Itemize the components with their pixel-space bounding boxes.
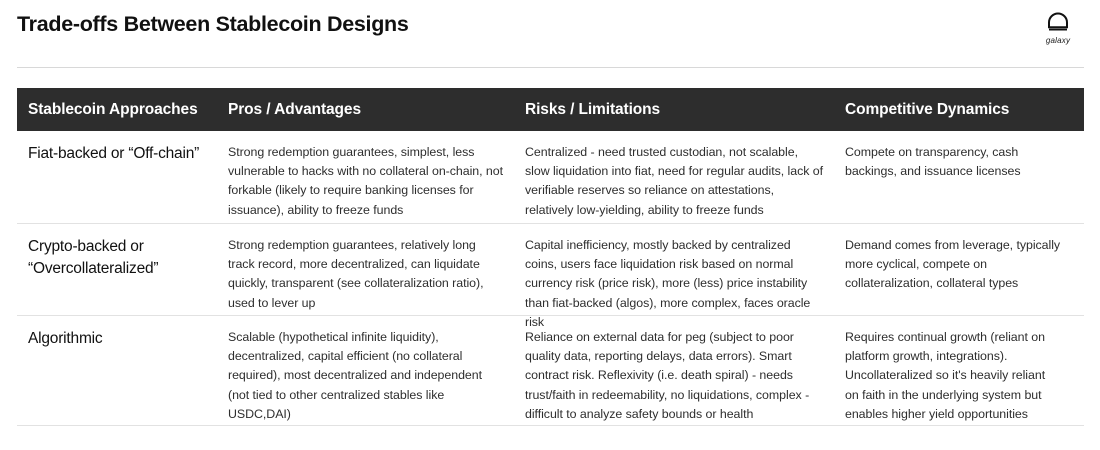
cell-approach: Crypto-backed or “Overcollateralized” — [17, 224, 228, 315]
cell-approach: Fiat-backed or “Off-chain” — [17, 131, 228, 223]
title-band: Trade-offs Between Stablecoin Designs ga… — [0, 0, 1100, 68]
cell-dynamics: Compete on transparency, cash backings, … — [845, 131, 1084, 223]
cell-pros: Strong redemption guarantees, relatively… — [228, 224, 525, 315]
cell-dynamics: Requires continual growth (reliant on pl… — [845, 316, 1084, 425]
cell-pros: Strong redemption guarantees, simplest, … — [228, 131, 525, 223]
column-header-approaches: Stablecoin Approaches — [17, 101, 228, 119]
table-header-row: Stablecoin Approaches Pros / Advantages … — [17, 88, 1084, 131]
cell-risks: Capital inefficiency, mostly backed by c… — [525, 224, 845, 315]
cell-risks: Reliance on external data for peg (subje… — [525, 316, 845, 425]
column-header-dynamics: Competitive Dynamics — [845, 101, 1084, 119]
table-row: Fiat-backed or “Off-chain” Strong redemp… — [17, 131, 1084, 224]
stablecoin-tradeoffs-page: Trade-offs Between Stablecoin Designs ga… — [0, 0, 1100, 450]
cell-risks: Centralized - need trusted custodian, no… — [525, 131, 845, 223]
cell-approach: Algorithmic — [17, 316, 228, 425]
galaxy-dome-logo-icon — [1045, 8, 1071, 34]
table-row: Algorithmic Scalable (hypothetical infin… — [17, 316, 1084, 426]
brand-name: galaxy — [1032, 36, 1084, 45]
cell-dynamics: Demand comes from leverage, typically mo… — [845, 224, 1084, 315]
title-divider — [17, 67, 1084, 68]
column-header-pros: Pros / Advantages — [228, 101, 525, 119]
column-header-risks: Risks / Limitations — [525, 101, 845, 119]
table-row: Crypto-backed or “Overcollateralized” St… — [17, 224, 1084, 316]
brand-logo: galaxy — [1032, 8, 1084, 45]
page-title: Trade-offs Between Stablecoin Designs — [17, 12, 409, 37]
tradeoffs-table: Stablecoin Approaches Pros / Advantages … — [17, 88, 1084, 426]
cell-pros: Scalable (hypothetical infinite liquidit… — [228, 316, 525, 425]
